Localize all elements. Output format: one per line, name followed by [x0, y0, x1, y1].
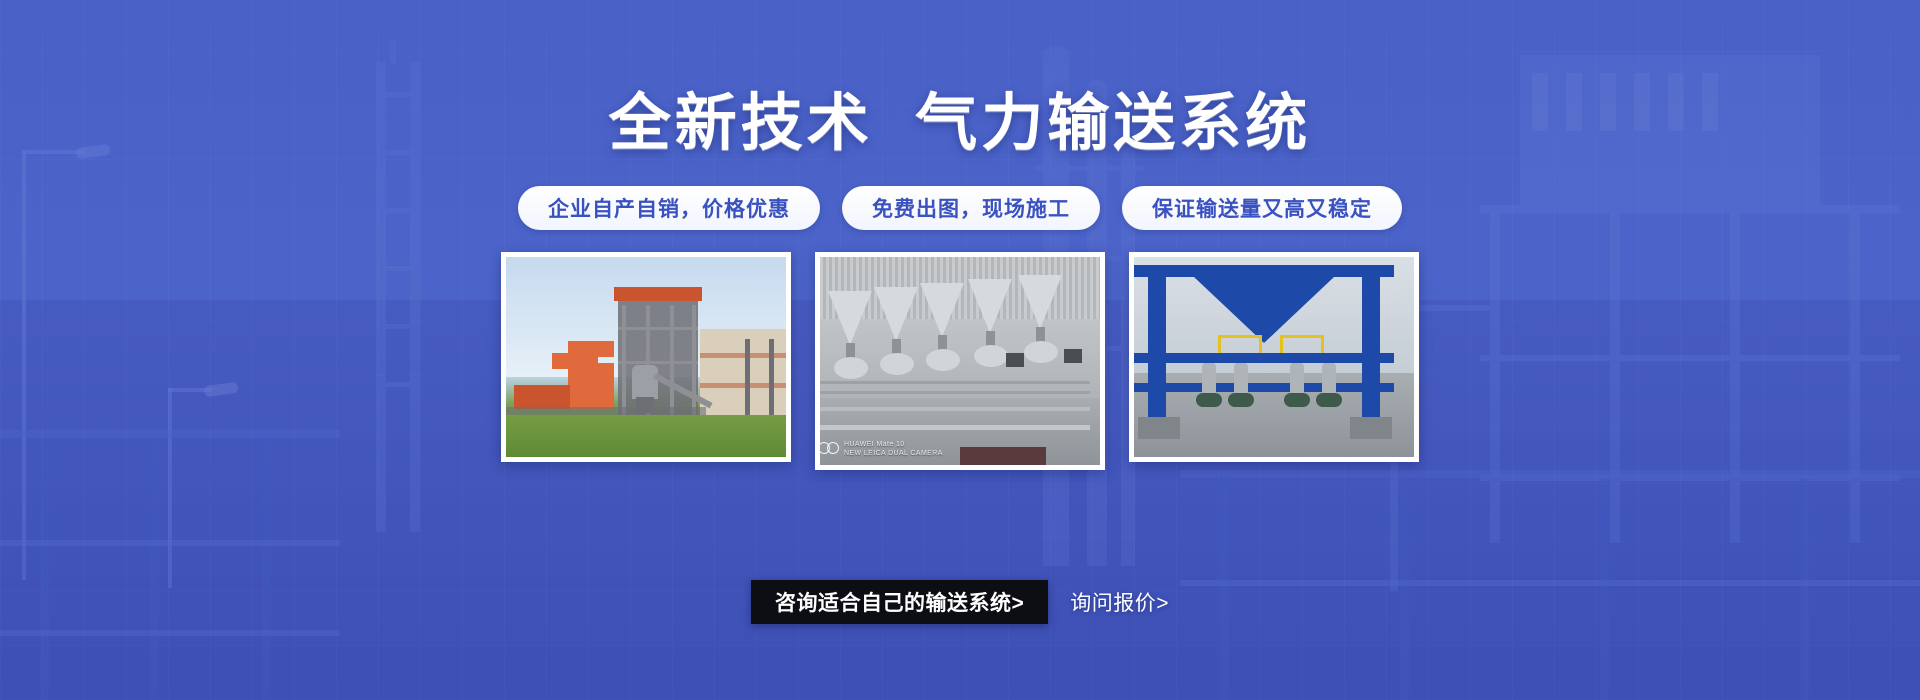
consult-system-button[interactable]: 咨询适合自己的输送系统>	[751, 580, 1048, 624]
feature-pill-2[interactable]: 免费出图，现场施工	[842, 186, 1100, 230]
gallery-photo-2-image: HUAWEI Mate 10 NEW LEICA DUAL CAMERA	[820, 257, 1100, 465]
feature-pill-1-label: 企业自产自销，价格优惠	[548, 193, 790, 223]
photo-watermark: HUAWEI Mate 10 NEW LEICA DUAL CAMERA	[830, 440, 943, 458]
feature-pill-1[interactable]: 企业自产自销，价格优惠	[518, 186, 820, 230]
feature-pill-3-label: 保证输送量又高又稳定	[1152, 193, 1372, 223]
cta-row: 咨询适合自己的输送系统> 询问报价>	[0, 580, 1920, 624]
gallery-photo-3[interactable]	[1129, 252, 1419, 462]
photo-gallery: HUAWEI Mate 10 NEW LEICA DUAL CAMERA	[0, 252, 1920, 470]
watermark-line-2: NEW LEICA DUAL CAMERA	[844, 449, 943, 458]
feature-pill-list: 企业自产自销，价格优惠 免费出图，现场施工 保证输送量又高又稳定	[0, 186, 1920, 230]
request-quote-link[interactable]: 询问报价>	[1070, 587, 1169, 617]
promo-banner: 全新技术 气力输送系统 企业自产自销，价格优惠 免费出图，现场施工 保证输送量又…	[0, 0, 1920, 700]
feature-pill-2-label: 免费出图，现场施工	[872, 193, 1070, 223]
watermark-line-1: HUAWEI Mate 10	[844, 440, 943, 449]
banner-title: 全新技术 气力输送系统	[0, 86, 1920, 162]
gallery-photo-1-image	[506, 257, 786, 457]
banner-content: 全新技术 气力输送系统 企业自产自销，价格优惠 免费出图，现场施工 保证输送量又…	[0, 0, 1920, 700]
camera-rings-icon	[820, 442, 840, 453]
gallery-photo-1[interactable]	[501, 252, 791, 462]
gallery-photo-3-image	[1134, 257, 1414, 457]
feature-pill-3[interactable]: 保证输送量又高又稳定	[1122, 186, 1402, 230]
gallery-photo-2[interactable]: HUAWEI Mate 10 NEW LEICA DUAL CAMERA	[815, 252, 1105, 470]
